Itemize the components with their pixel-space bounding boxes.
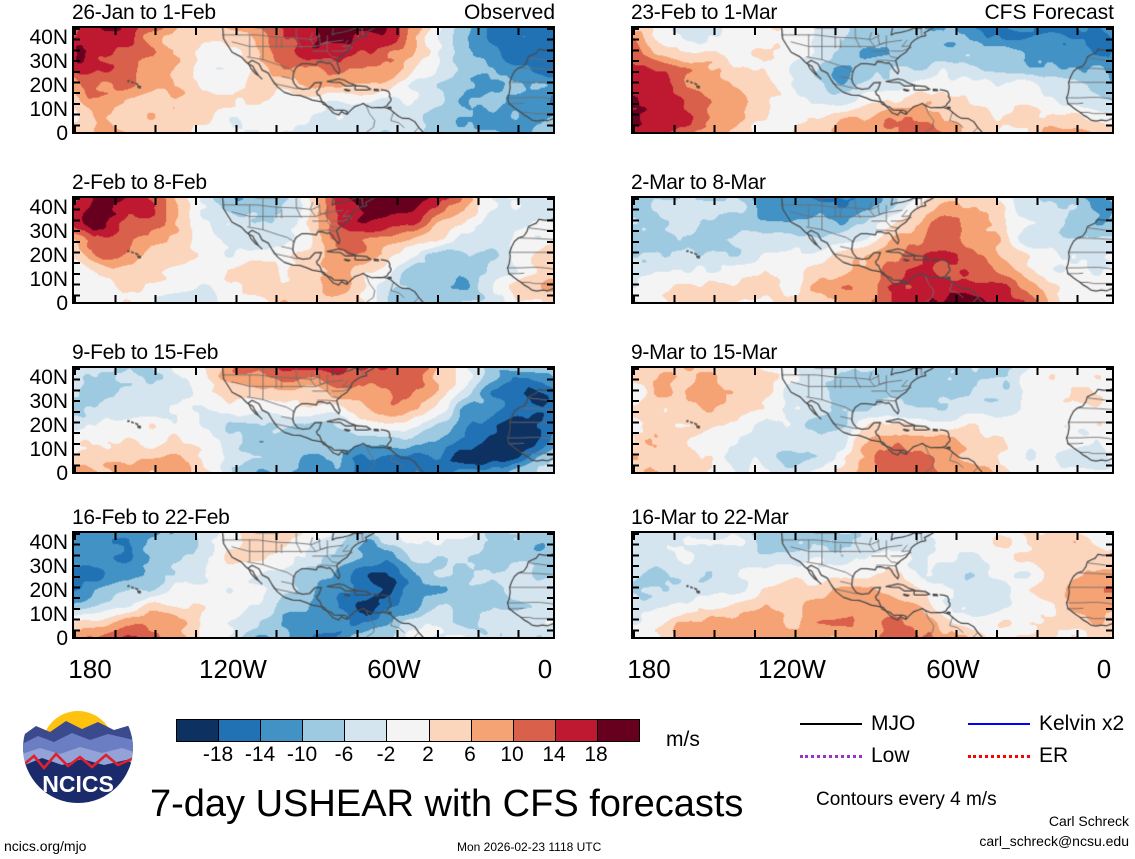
map-plot-area: [72, 196, 555, 304]
legend-label: Kelvin x2: [1039, 712, 1124, 736]
colorbar-segment-1: [219, 720, 261, 741]
panel-title: 9-Mar to 15-Mar: [631, 341, 777, 365]
axis-top-ticks: [633, 533, 1112, 540]
axis-top-ticks: [633, 28, 1112, 35]
y-axis-row-2: 40N30N20N10N0: [2, 366, 68, 474]
colorbar-tick-label: -18: [203, 743, 233, 767]
axis-bottom-ticks: [74, 630, 553, 637]
map-plot-area: [631, 196, 1114, 304]
map-panel-r3-c0: 16-Feb to 22-Feb: [72, 531, 555, 639]
ncics-logo: NCICS: [22, 692, 134, 804]
x-tick-label: 60W: [926, 654, 979, 685]
legend-line-swatch: [800, 755, 862, 758]
colorbar-tick-label: 10: [500, 743, 523, 767]
map-panel-r1-c1: 2-Mar to 8-Mar: [631, 196, 1114, 304]
map-plot-area: [631, 366, 1114, 474]
map-panel-r2-c1: 9-Mar to 15-Mar: [631, 366, 1114, 474]
map-plot-area: [72, 531, 555, 639]
legend-label: Low: [871, 744, 910, 768]
legend-line-swatch: [800, 723, 862, 725]
colorbar-segment-4: [345, 720, 387, 741]
axis-bottom-ticks: [633, 630, 1112, 637]
colorbar-segment-0: [177, 720, 219, 741]
x-tick-label: 0: [538, 654, 552, 685]
axis-left-ticks: [633, 198, 639, 302]
legend-item-mjo: MJO: [800, 712, 915, 736]
map-panel-r2-c0: 9-Feb to 15-Feb: [72, 366, 555, 474]
line-legend: MJOKelvin x2LowER: [800, 712, 1130, 774]
map-plot-area: [72, 366, 555, 474]
colorbar: [176, 719, 640, 742]
y-tick-label: 20N: [6, 245, 68, 266]
y-tick-label: 10N: [6, 269, 68, 290]
y-tick-label: 0: [6, 123, 68, 144]
colorbar-segment-3: [303, 720, 345, 741]
map-plot-area: [631, 531, 1114, 639]
panel-title: 2-Feb to 8-Feb: [72, 171, 207, 195]
ncics-logo-svg: NCICS: [22, 692, 134, 804]
figure-title: 7-day USHEAR with CFS forecasts: [150, 783, 743, 826]
axis-bottom-ticks: [74, 465, 553, 472]
axis-left-ticks: [74, 28, 80, 132]
colorbar-tick-label: 6: [464, 743, 476, 767]
axis-right-ticks: [1106, 198, 1112, 302]
y-tick-label: 10N: [6, 604, 68, 625]
colorbar-tick-label: -14: [245, 743, 275, 767]
map-plot-area: [72, 26, 555, 134]
colorbar-units-label: m/s: [666, 728, 700, 752]
panel-corner-label: CFS Forecast: [984, 1, 1114, 25]
logo-text: NCICS: [42, 771, 114, 797]
author-name: Carl Schreck: [1049, 813, 1129, 829]
y-axis-row-0: 40N30N20N10N0: [2, 26, 68, 134]
axis-bottom-ticks: [633, 125, 1112, 132]
x-tick-label: 180: [68, 654, 111, 685]
axis-bottom-ticks: [74, 125, 553, 132]
axis-left-ticks: [74, 198, 80, 302]
legend-label: MJO: [871, 712, 915, 736]
x-axis-col-0: 180120W60W0: [72, 654, 555, 688]
legend-line-swatch: [968, 755, 1030, 758]
contour-interval-note: Contours every 4 m/s: [816, 789, 997, 811]
x-tick-label: 180: [627, 654, 670, 685]
timestamp: Mon 2026-02-23 1118 UTC: [457, 840, 601, 854]
axis-top-ticks: [74, 533, 553, 540]
y-tick-label: 10N: [6, 99, 68, 120]
panel-title: 16-Mar to 22-Mar: [631, 506, 788, 530]
axis-right-ticks: [547, 28, 553, 132]
legend-item-low: Low: [800, 744, 910, 768]
map-panel-r0-c1: 23-Feb to 1-MarCFS Forecast: [631, 26, 1114, 134]
axis-right-ticks: [547, 533, 553, 637]
panel-corner-label: Observed: [464, 1, 555, 25]
legend-line-swatch: [968, 723, 1030, 725]
y-tick-label: 10N: [6, 439, 68, 460]
map-panel-r1-c0: 2-Feb to 8-Feb: [72, 196, 555, 304]
colorbar-tick-label: -10: [287, 743, 317, 767]
y-tick-label: 30N: [6, 221, 68, 242]
axis-left-ticks: [633, 533, 639, 637]
axis-bottom-ticks: [74, 295, 553, 302]
y-tick-label: 20N: [6, 580, 68, 601]
x-tick-label: 60W: [367, 654, 420, 685]
panel-title: 16-Feb to 22-Feb: [72, 506, 229, 530]
y-tick-label: 40N: [6, 532, 68, 553]
axis-bottom-ticks: [633, 465, 1112, 472]
x-axis-col-1: 180120W60W0: [631, 654, 1114, 688]
axis-bottom-ticks: [633, 295, 1112, 302]
axis-right-ticks: [1106, 28, 1112, 132]
y-tick-label: 0: [6, 293, 68, 314]
legend-item-er: ER: [968, 744, 1068, 768]
axis-right-ticks: [1106, 368, 1112, 472]
axis-left-ticks: [633, 28, 639, 132]
y-axis-row-1: 40N30N20N10N0: [2, 196, 68, 304]
y-tick-label: 0: [6, 628, 68, 649]
axis-left-ticks: [633, 368, 639, 472]
axis-right-ticks: [547, 198, 553, 302]
colorbar-tick-label: 2: [422, 743, 434, 767]
x-tick-label: 120W: [199, 654, 267, 685]
colorbar-tick-label: 14: [542, 743, 565, 767]
y-tick-label: 40N: [6, 197, 68, 218]
x-tick-label: 120W: [758, 654, 826, 685]
colorbar-tick-label: 18: [584, 743, 607, 767]
y-tick-label: 30N: [6, 51, 68, 72]
colorbar-segment-7: [472, 720, 514, 741]
map-plot-area: [631, 26, 1114, 134]
y-axis-row-3: 40N30N20N10N0: [2, 531, 68, 639]
y-tick-label: 0: [6, 463, 68, 484]
axis-top-ticks: [74, 368, 553, 375]
axis-right-ticks: [1106, 533, 1112, 637]
colorbar-segment-9: [556, 720, 598, 741]
author-email[interactable]: carl_schreck@ncsu.edu: [979, 833, 1129, 849]
axis-left-ticks: [74, 368, 80, 472]
colorbar-segment-2: [261, 720, 303, 741]
y-tick-label: 20N: [6, 75, 68, 96]
colorbar-segment-6: [430, 720, 472, 741]
panel-title: 23-Feb to 1-Mar: [631, 1, 777, 25]
panel-title: 26-Jan to 1-Feb: [72, 1, 216, 25]
legend-label: ER: [1039, 744, 1068, 768]
site-url[interactable]: ncics.org/mjo: [4, 838, 86, 854]
panel-title: 2-Mar to 8-Mar: [631, 171, 766, 195]
y-tick-label: 40N: [6, 27, 68, 48]
y-tick-label: 40N: [6, 367, 68, 388]
colorbar-tick-labels: -18-14-10-6-226101418: [176, 743, 638, 769]
axis-left-ticks: [74, 533, 80, 637]
y-tick-label: 30N: [6, 391, 68, 412]
colorbar-tick-label: -2: [377, 743, 396, 767]
x-tick-label: 0: [1097, 654, 1111, 685]
axis-top-ticks: [633, 368, 1112, 375]
colorbar-segment-8: [514, 720, 556, 741]
map-panel-r3-c1: 16-Mar to 22-Mar: [631, 531, 1114, 639]
y-tick-label: 20N: [6, 415, 68, 436]
colorbar-segment-10: [598, 720, 639, 741]
colorbar-segment-5: [387, 720, 429, 741]
axis-right-ticks: [547, 368, 553, 472]
map-panel-r0-c0: 26-Jan to 1-FebObserved: [72, 26, 555, 134]
colorbar-tick-label: -6: [335, 743, 354, 767]
panel-title: 9-Feb to 15-Feb: [72, 341, 218, 365]
axis-top-ticks: [74, 28, 553, 35]
y-tick-label: 30N: [6, 556, 68, 577]
axis-top-ticks: [74, 198, 553, 205]
axis-top-ticks: [633, 198, 1112, 205]
legend-item-kelvin-x2: Kelvin x2: [968, 712, 1124, 736]
